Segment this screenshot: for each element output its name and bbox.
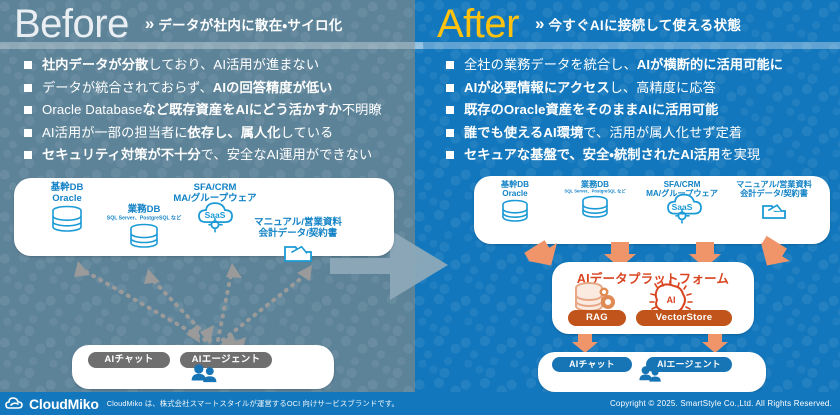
bullet-item: データが統合されておらず、AIの回答精度が低い	[24, 79, 414, 96]
source-label: 基幹DBOracle	[482, 180, 548, 198]
bullet-item: Oracle Databaseなど既存資産をAIにどう活かすか不明瞭	[24, 101, 414, 118]
bullet-square-icon	[24, 61, 32, 69]
bullet-square-icon	[446, 84, 454, 92]
source-label: 業務DB	[552, 180, 638, 189]
ai-data-platform-card: AIデータプラットフォーム AI	[552, 262, 754, 334]
bullet-square-icon	[24, 84, 32, 92]
cloudmiko-logo-icon	[6, 396, 24, 412]
source-node: マニュアル/営業資料会計データ/契約書	[248, 218, 348, 263]
bullet-text: Oracle Databaseなど既存資産をAIにどう活かすか不明瞭	[42, 101, 382, 118]
before-title: Before	[14, 4, 129, 44]
bullet-square-icon	[446, 129, 454, 137]
bullet-text: AI活用が一部の担当者に依存し、属人化している	[42, 124, 333, 141]
bullet-square-icon	[24, 129, 32, 137]
slide-canvas: Before » データが社内に散在・サイロ化 After » 今すぐAIに接続…	[0, 0, 840, 415]
after-platform-arrows	[570, 334, 740, 354]
bullet-text: データが統合されておらず、AIの回答精度が低い	[42, 79, 332, 96]
svg-text:AI: AI	[667, 295, 676, 305]
source-icon-wrap	[482, 200, 548, 222]
source-label: SFA/CRMMA/グループウェア	[170, 183, 260, 204]
source-node: 基幹DBOracle	[482, 180, 548, 222]
source-label: マニュアル/営業資料会計データ/契約書	[248, 218, 348, 239]
source-node: マニュアル/営業資料会計データ/契約書	[724, 180, 824, 220]
source-icon-wrap	[32, 206, 102, 232]
saas-cloud-icon: SaaS	[667, 200, 697, 222]
people-icon	[638, 366, 663, 383]
source-node: SFA/CRMMA/グループウェアSaaS	[170, 183, 260, 232]
before-bullet-list: 社内データが分散しており、AI活用が進まないデータが統合されておらず、AIの回答…	[24, 56, 414, 169]
before-header: Before » データが社内に散在・サイロ化	[0, 0, 423, 48]
after-chevron-icon: »	[535, 14, 541, 34]
bullet-text: セキュアな基盤で、安全・統制されたAI活用を実現	[464, 146, 760, 163]
people-icon	[190, 364, 219, 384]
bullet-text: 誰でも使えるAI環境で、活用が属人化せず定着	[464, 124, 742, 141]
bullet-square-icon	[24, 151, 32, 159]
bullet-item: AIが必要情報にアクセスし、高精度に応答	[446, 79, 832, 96]
platform-tag[interactable]: RAG	[568, 310, 626, 326]
bullet-text: 社内データが分散しており、AI活用が進まない	[42, 56, 319, 73]
source-sublabel: SQL Server、PostgreSQL など	[555, 189, 634, 194]
footer-copyright: Copyright © 2025. SmartStyle Co.,Ltd. Al…	[610, 399, 832, 408]
bullet-text: 全社の業務データを統合し、AIが横断的に活用可能に	[464, 56, 783, 73]
footer-note: CloudMiko は、株式会社スマートスタイルが運営するOCI 向けサービスブ…	[107, 398, 399, 409]
consumer-pill[interactable]: AIチャット	[552, 357, 632, 372]
source-node: 基幹DBOracle	[32, 183, 102, 232]
source-label: マニュアル/営業資料会計データ/契約書	[724, 180, 824, 198]
consumer-pill[interactable]: AIチャット	[88, 352, 170, 368]
bullet-item: 全社の業務データを統合し、AIが横断的に活用可能に	[446, 56, 832, 73]
footer-brand: CloudMiko	[29, 396, 99, 412]
bullet-text: セキュリティ対策が不十分で、安全なAI運用ができない	[42, 146, 372, 163]
after-title: After	[437, 4, 519, 44]
source-icon-wrap	[552, 196, 638, 218]
bullet-item: 社内データが分散しており、AI活用が進まない	[24, 56, 414, 73]
after-bullet-list: 全社の業務データを統合し、AIが横断的に活用可能にAIが必要情報にアクセスし、高…	[446, 56, 832, 169]
footer-bar: CloudMiko CloudMiko は、株式会社スマートスタイルが運営するO…	[0, 392, 840, 415]
database-icon	[582, 196, 608, 218]
after-header: After » 今すぐAIに接続して使える状態	[415, 0, 840, 48]
bullet-text: AIが必要情報にアクセスし、高精度に応答	[464, 79, 716, 96]
bullet-item: セキュリティ対策が不十分で、安全なAI運用ができない	[24, 146, 414, 163]
platform-tag[interactable]: VectorStore	[636, 310, 732, 326]
folder-icon	[283, 241, 313, 263]
bullet-text: 既存のOracle資産をそのままAIに活用可能	[464, 101, 718, 118]
bullet-square-icon	[446, 61, 454, 69]
bullet-item: AI活用が一部の担当者に依存し、属人化している	[24, 124, 414, 141]
source-icon-wrap	[248, 241, 348, 263]
before-dotted-arrows	[60, 255, 330, 350]
folder-icon	[761, 200, 787, 220]
bullet-square-icon	[446, 151, 454, 159]
source-node: 業務DBSQL Server、PostgreSQL など	[552, 180, 638, 218]
bullet-item: 誰でも使えるAI環境で、活用が属人化せず定着	[446, 124, 832, 141]
saas-cloud-icon: SaaS	[198, 206, 232, 232]
source-icon-wrap: SaaS	[640, 200, 724, 222]
source-icon-wrap	[724, 200, 824, 220]
after-subtitle: 今すぐAIに接続して使える状態	[548, 14, 741, 34]
bullet-square-icon	[24, 106, 32, 114]
before-chevron-icon: »	[145, 14, 151, 34]
before-subtitle: データが社内に散在・サイロ化	[158, 14, 342, 34]
database-icon	[130, 224, 158, 248]
database-icon	[502, 200, 528, 222]
source-icon-wrap: SaaS	[170, 206, 260, 232]
bullet-item: 既存のOracle資産をそのままAIに活用可能	[446, 101, 832, 118]
bullet-square-icon	[446, 106, 454, 114]
database-icon	[52, 206, 82, 232]
source-node: SFA/CRMMA/グループウェアSaaS	[640, 180, 724, 222]
source-label: 基幹DBOracle	[32, 183, 102, 204]
bullet-item: セキュアな基盤で、安全・統制されたAI活用を実現	[446, 146, 832, 163]
